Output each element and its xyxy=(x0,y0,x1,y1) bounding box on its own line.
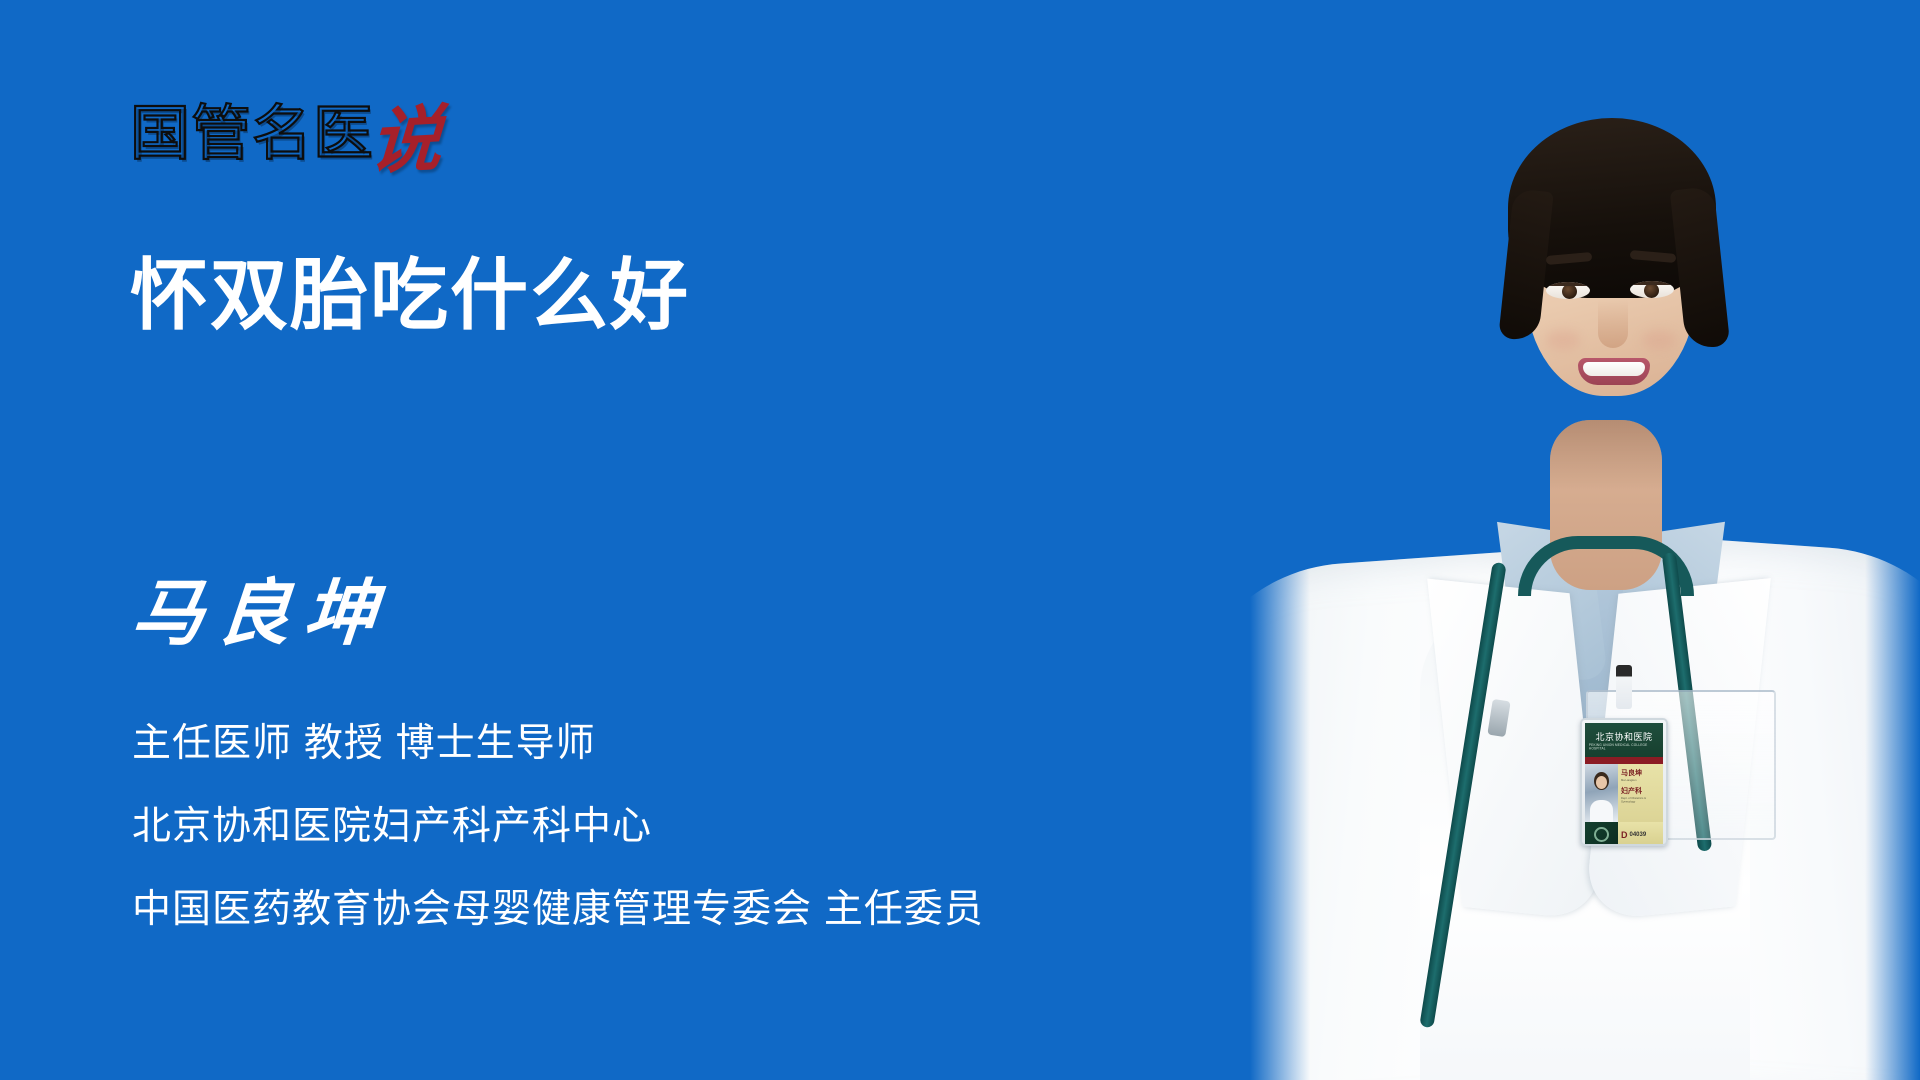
id-badge-seal-icon xyxy=(1585,822,1618,846)
id-badge-seal-ring xyxy=(1594,827,1609,842)
cheek-left xyxy=(1546,330,1580,350)
id-badge-hospital-name-en: PEKING UNION MEDICAL COLLEGE HOSPITAL xyxy=(1589,743,1659,750)
episode-title: 怀双胎吃什么好 xyxy=(130,252,690,338)
id-badge-stripe xyxy=(1585,757,1663,764)
program-logo: 国管名医 说 xyxy=(130,92,440,164)
slide-canvas: 国管名医 说 怀双胎吃什么好 马良坤 主任医师 教授 博士生导师 北京协和医院妇… xyxy=(0,0,1920,1080)
program-logo-main-text: 国管名医 xyxy=(130,104,374,164)
credential-line-1: 主任医师 教授 博士生导师 xyxy=(132,722,984,766)
id-badge-header: 北京协和医院 PEKING UNION MEDICAL COLLEGE HOSP… xyxy=(1585,723,1663,757)
id-badge-photo-coat xyxy=(1590,800,1613,822)
id-badge-department-en: Dept. of Obstetrics & Gynecology xyxy=(1621,796,1656,803)
eye-left xyxy=(1546,282,1590,299)
id-badge-number-letter: D xyxy=(1621,830,1628,840)
eyelid-right xyxy=(1630,281,1674,285)
id-badge-photo-face xyxy=(1596,776,1607,789)
program-logo-accent-text: 说 xyxy=(368,108,443,172)
credential-line-2: 北京协和医院妇产科产科中心 xyxy=(132,805,984,849)
id-badge-photo xyxy=(1585,764,1618,822)
speaker-portrait: 北京协和医院 PEKING UNION MEDICAL COLLEGE HOSP… xyxy=(1250,0,1920,1080)
speaker-name: 马良坤 xyxy=(128,572,393,654)
id-badge-info: 马良坤 Ma Liangkun 妇产科 Dept. of Obstetrics … xyxy=(1618,764,1663,822)
iris-left xyxy=(1562,284,1577,299)
neck-shadow xyxy=(1550,420,1662,490)
eye-right xyxy=(1630,281,1674,298)
id-badge-body: 马良坤 Ma Liangkun 妇产科 Dept. of Obstetrics … xyxy=(1585,764,1663,822)
id-badge-number-row: D 04039 xyxy=(1618,822,1663,846)
eyelid-left xyxy=(1546,282,1590,286)
teeth xyxy=(1583,362,1645,376)
credential-line-3: 中国医药教育协会母婴健康管理专委会 主任委员 xyxy=(132,888,984,932)
speaker-credentials: 主任医师 教授 博士生导师 北京协和医院妇产科产科中心 中国医药教育协会母婴健康… xyxy=(132,722,984,932)
id-badge-number-digits: 04039 xyxy=(1630,832,1647,838)
iris-right xyxy=(1644,283,1659,298)
id-badge-department: 妇产科 xyxy=(1621,786,1660,796)
id-badge: 北京协和医院 PEKING UNION MEDICAL COLLEGE HOSP… xyxy=(1580,718,1668,846)
cheek-right xyxy=(1642,330,1676,350)
pen-icon xyxy=(1616,665,1632,709)
mouth xyxy=(1578,358,1650,385)
id-badge-person-name: 马良坤 xyxy=(1621,768,1660,778)
id-badge-footer: D 04039 xyxy=(1585,822,1663,846)
nose xyxy=(1598,300,1628,348)
id-badge-person-name-en: Ma Liangkun xyxy=(1621,778,1656,782)
id-badge-hospital-name: 北京协和医院 xyxy=(1595,730,1652,743)
